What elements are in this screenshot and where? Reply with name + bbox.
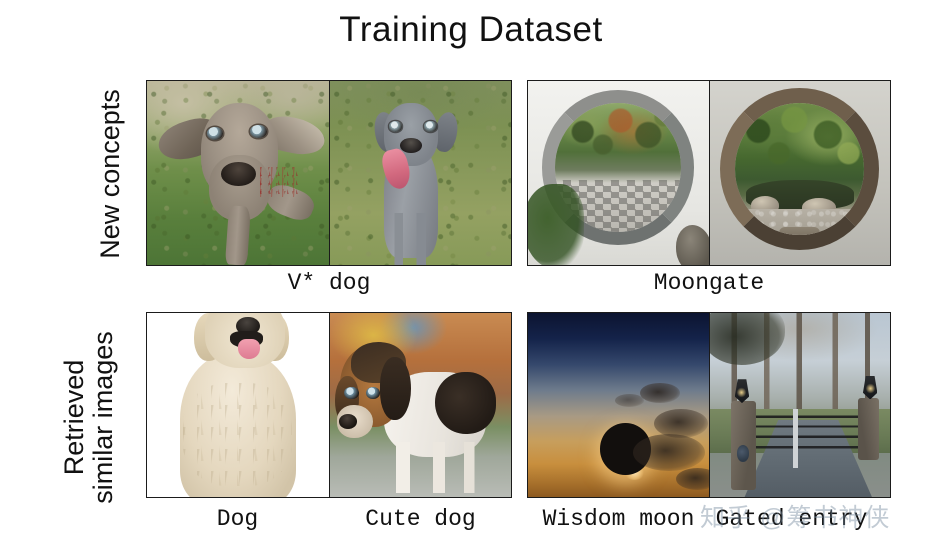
row-label-retrieved-line-2: similar images xyxy=(89,305,118,530)
photo-golden-retriever xyxy=(147,313,329,497)
dog-nose xyxy=(221,162,255,186)
photo-weimaraner-closeup xyxy=(147,81,329,265)
stone-step xyxy=(779,227,820,243)
photo-moongate-stone-white-wall xyxy=(528,81,709,265)
photo-solar-eclipse-sky xyxy=(528,313,709,497)
caption-moongate: Moongate xyxy=(527,270,891,296)
dog-eye-right xyxy=(250,125,266,138)
foreground-rock xyxy=(676,225,708,265)
dog-eye-left xyxy=(207,127,223,140)
puppy-eye-left xyxy=(344,387,359,400)
dog-tongue xyxy=(238,339,260,359)
foreground-bush xyxy=(528,184,584,265)
puppy-nose xyxy=(339,414,357,429)
image-group-retrieved-dogs xyxy=(146,312,512,498)
pillar-plaque xyxy=(737,445,750,462)
row-label-new-concepts-line-1: New concepts xyxy=(96,74,125,274)
cloud xyxy=(633,434,705,471)
row-label-retrieved-line-1: Retrieved xyxy=(60,305,89,530)
foliage xyxy=(555,103,681,183)
image-group-moongate xyxy=(527,80,891,266)
image-group-vstar-dog xyxy=(146,80,512,266)
stone-pillar-right xyxy=(858,398,880,461)
dog-eye-left xyxy=(389,121,402,131)
puppy-ear-right xyxy=(380,357,411,420)
lamp-glow-right xyxy=(866,383,875,394)
moongate-ring xyxy=(720,88,879,250)
dog-foreleg-left xyxy=(225,205,251,265)
dog-whiskers xyxy=(260,167,300,196)
puppy-black-patch xyxy=(435,372,497,435)
caption-wisdom-moon: Wisdom moon xyxy=(527,506,710,532)
row-label-retrieved-similar-images: Retrieved similar images xyxy=(60,305,118,530)
photo-moongate-wood-garden-pond xyxy=(709,81,891,265)
cloud xyxy=(676,468,709,490)
caption-cute-dog: Cute dog xyxy=(329,506,512,532)
dog-fur-texture xyxy=(183,383,292,486)
caption-gated-entry: Gated entry xyxy=(700,506,883,532)
row-label-new-concepts: New concepts xyxy=(96,74,125,274)
cloud xyxy=(640,383,680,403)
dog-nose xyxy=(400,138,422,153)
puppy-legs xyxy=(391,442,478,494)
page-title: Training Dataset xyxy=(0,10,942,50)
dog-legs xyxy=(389,213,433,265)
caption-vstar-dog: V* dog xyxy=(146,270,512,296)
image-group-retrieved-moon-gate xyxy=(527,312,891,498)
cloud xyxy=(615,394,644,407)
gate-post xyxy=(793,409,798,468)
photo-gated-driveway xyxy=(709,313,891,497)
caption-dog: Dog xyxy=(146,506,329,532)
dog-eye-right xyxy=(424,121,437,131)
photo-weimaraner-standing xyxy=(329,81,512,265)
photo-beagle-puppy xyxy=(329,313,512,497)
